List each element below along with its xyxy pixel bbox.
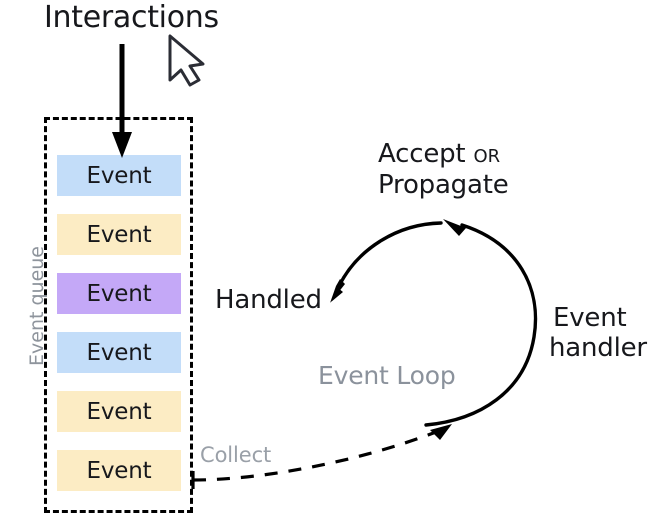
event-queue-item[interactable]: Event [57, 155, 181, 196]
event-handler-label-line1: Event [553, 305, 626, 332]
handled-label: Handled [215, 287, 322, 314]
event-queue-item-label: Event [87, 340, 152, 366]
event-queue-item[interactable]: Event [57, 332, 181, 373]
event-queue-item-label: Event [87, 458, 152, 484]
page-title: Interactions [44, 2, 219, 34]
event-queue-item-label: Event [87, 399, 152, 425]
event-queue-item[interactable]: Event [57, 450, 181, 491]
event-queue-side-label: Event queue [26, 256, 48, 366]
or-word: OR [474, 146, 501, 167]
event-queue-item[interactable]: Event [57, 273, 181, 314]
handler-to-accept-arc [426, 219, 536, 425]
event-loop-diagram: Interactions Event queue EventEventEvent… [0, 0, 655, 519]
propagate-label: Propagate [378, 172, 509, 199]
accept-to-handled-arc [330, 223, 441, 303]
mouse-pointer-icon [170, 36, 203, 85]
event-handler-label-line2: handler [549, 335, 647, 362]
collect-label: Collect [200, 444, 271, 466]
event-queue-item[interactable]: Event [57, 391, 181, 432]
accept-word: Accept [378, 139, 465, 169]
accept-or-label: Accept OR [378, 141, 500, 168]
event-queue-item[interactable]: Event [57, 214, 181, 255]
event-loop-label: Event Loop [318, 363, 456, 389]
event-queue-item-label: Event [87, 163, 152, 189]
event-queue-item-label: Event [87, 281, 152, 307]
event-queue-item-label: Event [87, 222, 152, 248]
